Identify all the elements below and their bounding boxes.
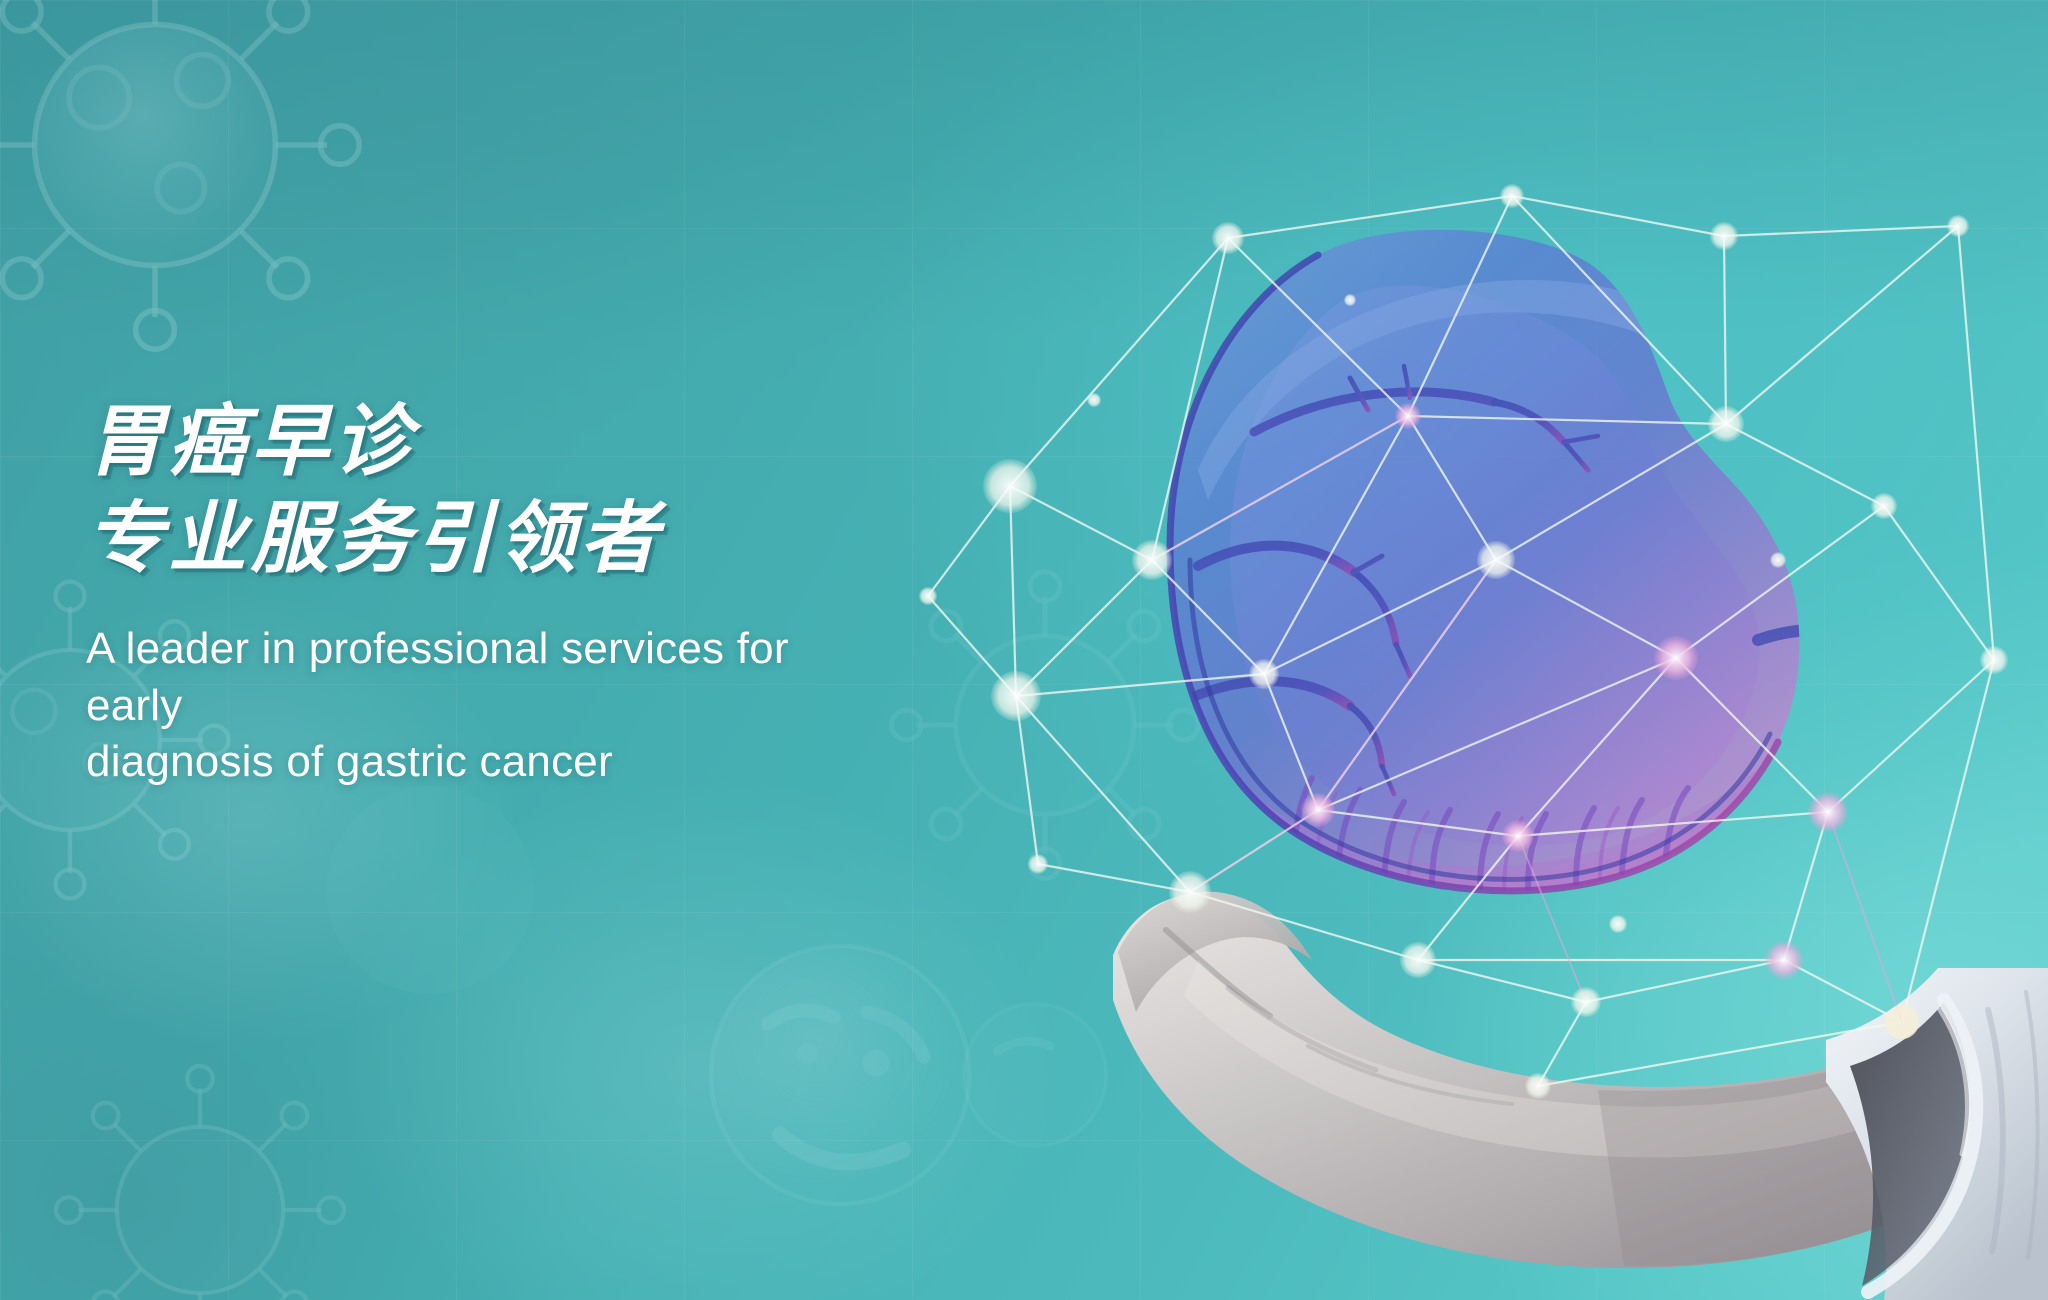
virus-particle-icon: [0, 0, 370, 360]
stomach-organ-illustration: [1168, 190, 2016, 990]
lab-coat-sleeve: [1826, 968, 2048, 1300]
hero-copy: 胃癌早诊 专业服务引领者 A leader in professional se…: [86, 400, 1086, 790]
subheadline: A leader in professional services for ea…: [86, 621, 876, 790]
headline-line-2: 专业服务引领者: [86, 497, 1086, 580]
banner-root: 胃癌早诊 专业服务引领者 A leader in professional se…: [0, 0, 2048, 1300]
cell-bubble-icon: [300, 760, 560, 1020]
subheadline-line-1: A leader in professional services for ea…: [86, 624, 789, 729]
headline-line-1: 胃癌早诊: [86, 400, 1086, 483]
subheadline-line-2: diagnosis of gastric cancer: [86, 737, 613, 786]
virus-particle-icon: [40, 1050, 360, 1300]
